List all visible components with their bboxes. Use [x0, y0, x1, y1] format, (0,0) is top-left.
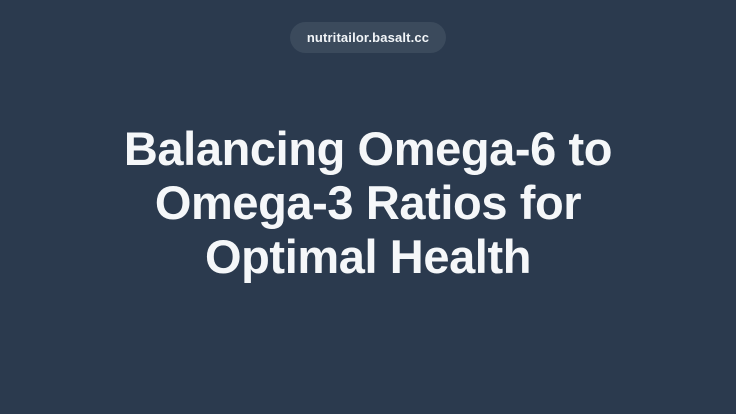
url-badge[interactable]: nutritailor.basalt.cc: [290, 22, 446, 53]
page-title-line-2: Omega-3 Ratios for: [48, 176, 688, 230]
page-title: Balancing Omega-6 to Omega-3 Ratios for …: [48, 122, 688, 284]
page-title-line-3: Optimal Health: [48, 230, 688, 284]
url-badge-container: nutritailor.basalt.cc: [0, 22, 736, 53]
slide-canvas: nutritailor.basalt.cc Balancing Omega-6 …: [0, 0, 736, 414]
url-badge-label: nutritailor.basalt.cc: [307, 31, 429, 44]
hero-section: Balancing Omega-6 to Omega-3 Ratios for …: [0, 122, 736, 284]
page-title-line-1: Balancing Omega-6 to: [48, 122, 688, 176]
